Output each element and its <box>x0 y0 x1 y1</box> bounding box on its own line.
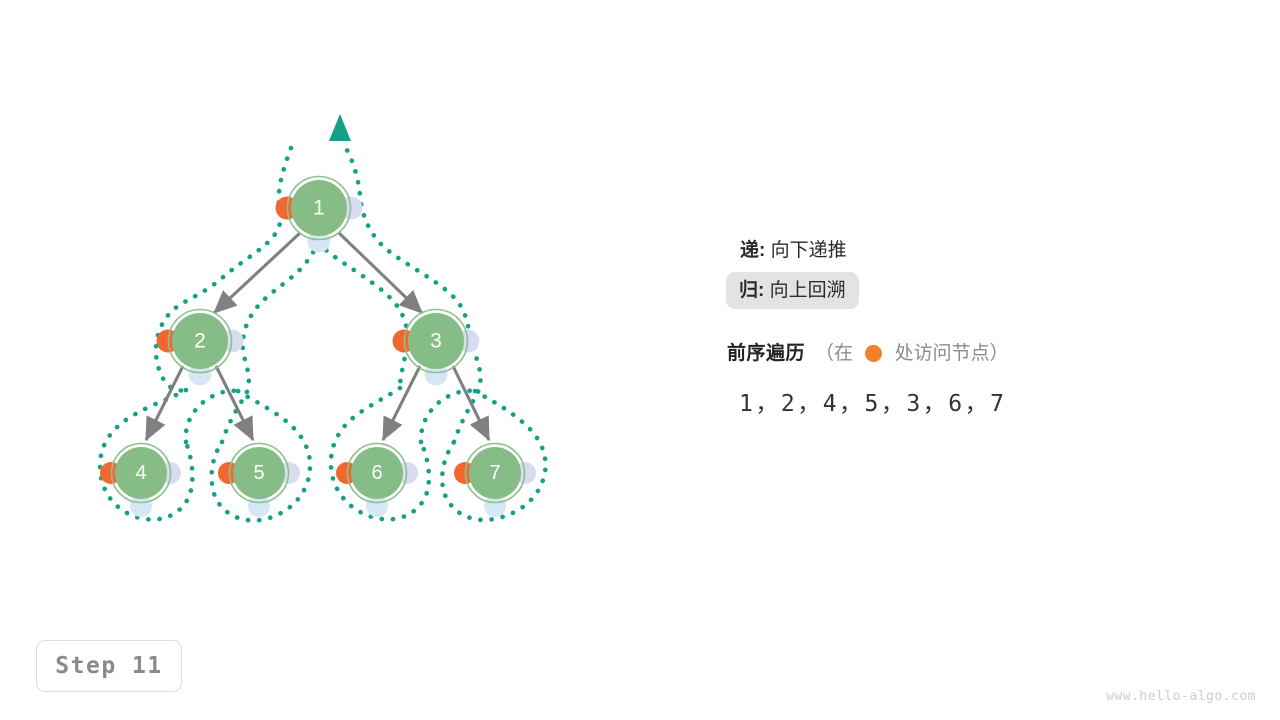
legend-backtrack-text: 向上回溯 <box>770 280 846 301</box>
visit-dot-icon <box>865 345 882 362</box>
watermark: www.hello-algo.com <box>1106 689 1256 704</box>
node-label-4: 4 <box>135 462 146 484</box>
step-badge: Step 11 <box>36 640 182 692</box>
path-root-right <box>318 243 408 388</box>
node-label-1: 1 <box>313 197 325 220</box>
edge-1-2 <box>214 233 300 313</box>
traversal-title-label: 前序遍历 <box>727 344 805 363</box>
legend-row-backtrack: 归: 向上回溯 <box>726 272 859 309</box>
tree-node-2[interactable]: 2 <box>157 310 244 386</box>
legend-recurse-text: 向下递推 <box>771 240 847 261</box>
legend-backtrack-key: 归: <box>739 280 764 301</box>
traversal-note-suffix: 处访问节点） <box>895 343 1009 364</box>
path-6-to-7-up <box>421 391 475 442</box>
tree-node-5[interactable]: 5 <box>218 444 300 518</box>
path-up-to-marker <box>346 148 480 442</box>
tree-node-4[interactable]: 4 <box>100 444 181 518</box>
node-label-3: 3 <box>430 330 442 353</box>
traversal-sequence: 1，2，4，5，3，6，7 <box>739 384 1006 418</box>
tree-node-3[interactable]: 3 <box>393 310 480 386</box>
binary-tree-diagram: 1 2 3 4 <box>0 0 620 580</box>
traversal-title: 前序遍历 （在 处访问节点） <box>727 344 1009 363</box>
node-label-2: 2 <box>194 330 206 353</box>
current-position-marker <box>329 114 351 141</box>
node-label-6: 6 <box>371 462 382 484</box>
path-4-to-5-up <box>186 391 238 442</box>
node-label-5: 5 <box>253 462 264 484</box>
edge-3-6 <box>383 366 420 440</box>
diagram-canvas: 1 2 3 4 <box>0 0 1280 720</box>
node-label-7: 7 <box>489 462 500 484</box>
edge-2-5 <box>216 366 253 440</box>
legend-recurse-key: 递: <box>740 240 765 261</box>
tree-node-6[interactable]: 6 <box>336 444 418 518</box>
legend-row-recurse: 递: 向下递推 <box>727 232 860 269</box>
traversal-note-prefix: （在 <box>815 343 853 364</box>
edge-3-7 <box>453 366 489 440</box>
